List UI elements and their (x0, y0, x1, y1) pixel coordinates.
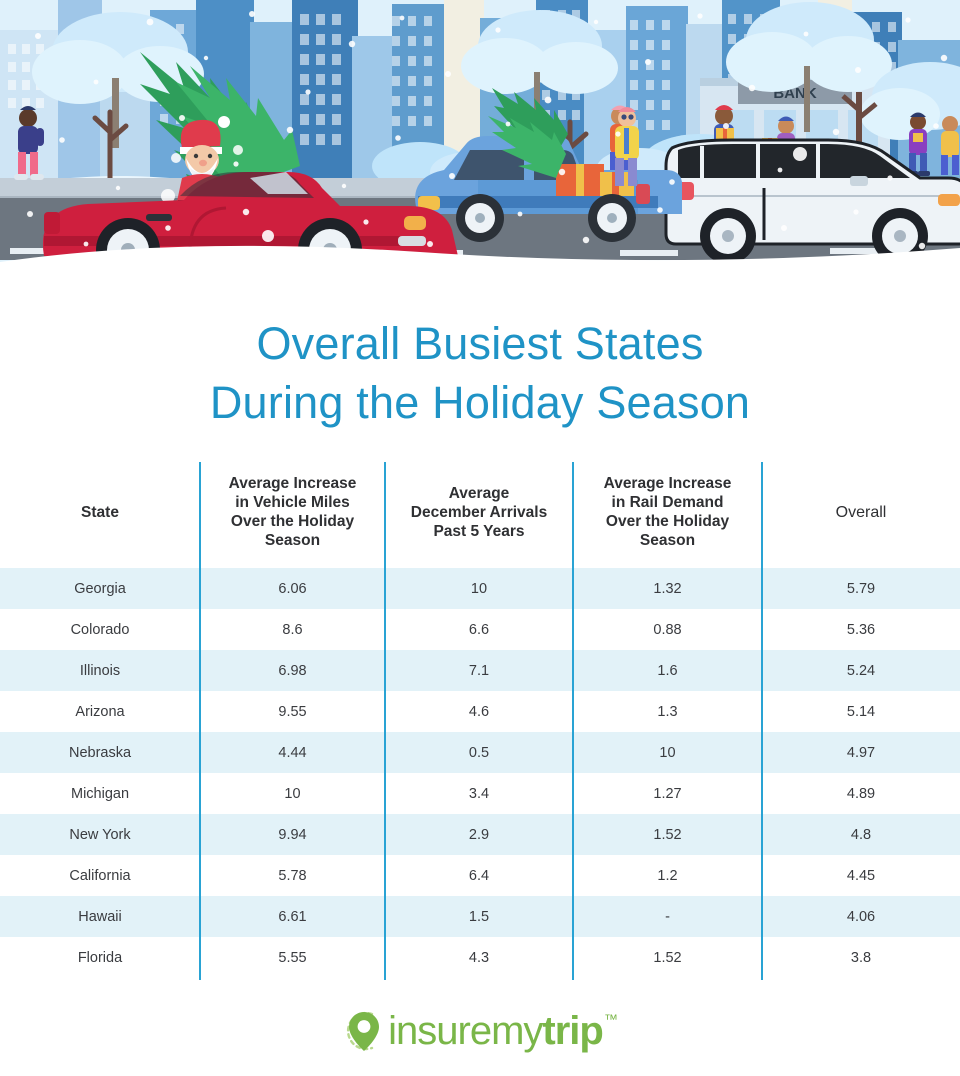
cell-state: Florida (0, 937, 200, 978)
cell-vehicle: 6.61 (200, 896, 385, 937)
header-line: Over the Holiday (231, 513, 354, 530)
pickup-wheel-front (456, 194, 504, 242)
cell-arrivals: 4.3 (385, 937, 573, 978)
cell-overall: 5.24 (762, 650, 960, 691)
header-line: Past 5 Years (433, 523, 524, 540)
header-line: December Arrivals (411, 504, 547, 521)
cell-rail: 1.3 (573, 691, 762, 732)
cell-state: Arizona (0, 691, 200, 732)
cell-arrivals: 3.4 (385, 773, 573, 814)
cell-overall: 4.89 (762, 773, 960, 814)
cell-state: Michigan (0, 773, 200, 814)
cell-rail: 1.52 (573, 814, 762, 855)
table-row: Georgia 6.06 10 1.32 5.79 (0, 568, 960, 609)
cell-rail: 0.88 (573, 609, 762, 650)
column-header-rail-demand: Average Increase in Rail Demand Over the… (573, 456, 762, 568)
cell-overall: 4.97 (762, 732, 960, 773)
page-title-line-2: During the Holiday Season (0, 373, 960, 432)
table-row: Florida 5.55 4.3 1.52 3.8 (0, 937, 960, 978)
brand-logo[interactable]: insuremytrip ™ (0, 1008, 960, 1054)
suv-wheel-front (700, 208, 756, 264)
cell-arrivals: 7.1 (385, 650, 573, 691)
header-line: Season (265, 532, 320, 549)
cell-rail: 1.27 (573, 773, 762, 814)
busiest-states-table: State Average Increase in Vehicle Miles … (0, 456, 960, 978)
column-header-state: State (0, 456, 200, 568)
cell-overall: 5.14 (762, 691, 960, 732)
header-line: in Vehicle Miles (235, 494, 350, 511)
cell-overall: 3.8 (762, 937, 960, 978)
cell-vehicle: 10 (200, 773, 385, 814)
table-row: California 5.78 6.4 1.2 4.45 (0, 855, 960, 896)
cell-rail: 10 (573, 732, 762, 773)
cell-rail: 1.6 (573, 650, 762, 691)
table-header: State Average Increase in Vehicle Miles … (0, 456, 960, 568)
table-row: Colorado 8.6 6.6 0.88 5.36 (0, 609, 960, 650)
header-line: in Rail Demand (612, 494, 724, 511)
cell-overall: 4.8 (762, 814, 960, 855)
cell-vehicle: 8.6 (200, 609, 385, 650)
cell-arrivals: 10 (385, 568, 573, 609)
table-row: Hawaii 6.61 1.5 - 4.06 (0, 896, 960, 937)
table-row: Arizona 9.55 4.6 1.3 5.14 (0, 691, 960, 732)
header-line: State (81, 504, 119, 521)
header-line: Average Increase (229, 475, 357, 492)
cell-arrivals: 0.5 (385, 732, 573, 773)
cell-state: Georgia (0, 568, 200, 609)
pickup-wheel-rear (588, 194, 636, 242)
header-line: Season (640, 532, 695, 549)
map-pin-icon (342, 1008, 386, 1054)
cell-vehicle: 6.98 (200, 650, 385, 691)
column-header-vehicle-miles: Average Increase in Vehicle Miles Over t… (200, 456, 385, 568)
winter-city-scene-svg: BANK (0, 0, 960, 278)
column-header-december-arrivals: Average December Arrivals Past 5 Years (385, 456, 573, 568)
cell-arrivals: 1.5 (385, 896, 573, 937)
cell-state: California (0, 855, 200, 896)
cell-state: Illinois (0, 650, 200, 691)
cell-state: Colorado (0, 609, 200, 650)
hero-illustration: BANK (0, 0, 960, 278)
cell-vehicle: 9.55 (200, 691, 385, 732)
logo-word-light: insuremy (388, 1009, 542, 1053)
cell-arrivals: 4.6 (385, 691, 573, 732)
cell-vehicle: 5.78 (200, 855, 385, 896)
cell-rail: 1.32 (573, 568, 762, 609)
cell-state: Nebraska (0, 732, 200, 773)
page-title-line-1: Overall Busiest States (0, 314, 960, 373)
logo-word-bold: trip (542, 1009, 602, 1053)
cell-state: Hawaii (0, 896, 200, 937)
header-line: Average (449, 485, 510, 502)
logo-wordmark: insuremytrip (388, 1011, 603, 1051)
page-title: Overall Busiest States During the Holida… (0, 278, 960, 432)
header-line: Over the Holiday (606, 513, 729, 530)
cell-arrivals: 6.6 (385, 609, 573, 650)
cell-arrivals: 6.4 (385, 855, 573, 896)
table-body: Georgia 6.06 10 1.32 5.79 Colorado 8.6 6… (0, 568, 960, 978)
cell-overall: 4.45 (762, 855, 960, 896)
table-row: New York 9.94 2.9 1.52 4.8 (0, 814, 960, 855)
cell-vehicle: 4.44 (200, 732, 385, 773)
cell-rail: - (573, 896, 762, 937)
cell-overall: 5.79 (762, 568, 960, 609)
data-table-wrap: State Average Increase in Vehicle Miles … (0, 456, 960, 978)
header-line: Average Increase (604, 475, 732, 492)
table-row: Michigan 10 3.4 1.27 4.89 (0, 773, 960, 814)
cell-arrivals: 2.9 (385, 814, 573, 855)
cell-overall: 4.06 (762, 896, 960, 937)
cell-vehicle: 5.55 (200, 937, 385, 978)
table-row: Nebraska 4.44 0.5 10 4.97 (0, 732, 960, 773)
cell-rail: 1.2 (573, 855, 762, 896)
cell-vehicle: 6.06 (200, 568, 385, 609)
cell-state: New York (0, 814, 200, 855)
table-header-row: State Average Increase in Vehicle Miles … (0, 456, 960, 568)
cell-rail: 1.52 (573, 937, 762, 978)
table-row: Illinois 6.98 7.1 1.6 5.24 (0, 650, 960, 691)
cell-vehicle: 9.94 (200, 814, 385, 855)
header-line: Overall (836, 504, 887, 521)
cell-overall: 5.36 (762, 609, 960, 650)
column-header-overall: Overall (762, 456, 960, 568)
trademark-symbol: ™ (604, 1012, 618, 1026)
